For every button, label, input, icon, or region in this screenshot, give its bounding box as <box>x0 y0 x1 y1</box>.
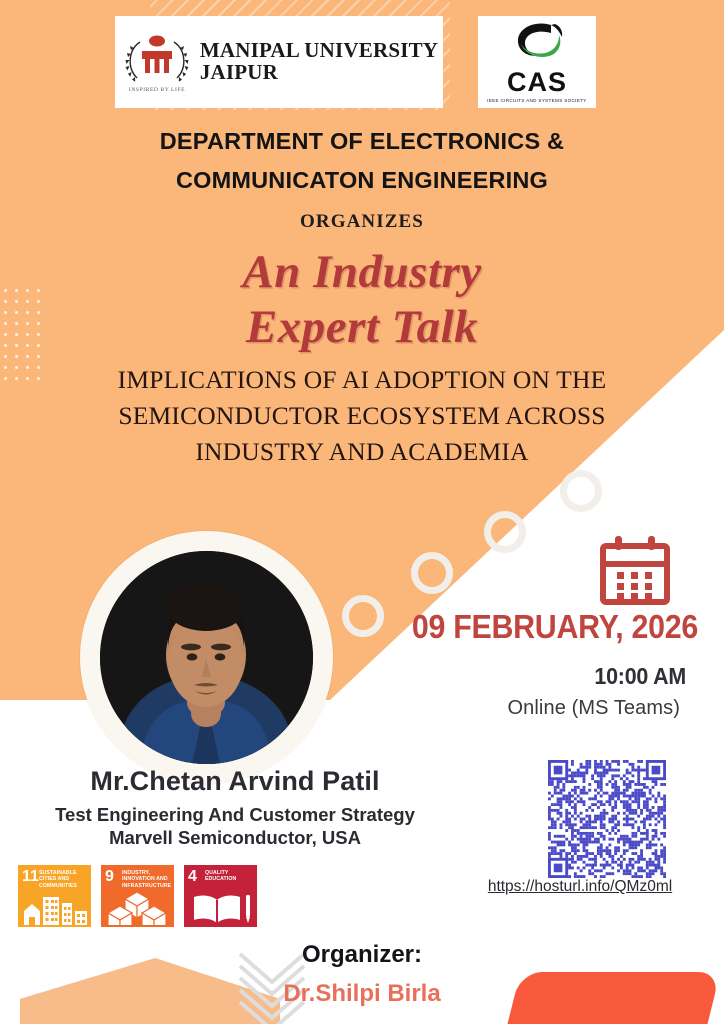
sdg-4-label: QUALITY EDUCATION <box>205 870 255 883</box>
event-date: 09 FEBRUARY, 2026 <box>359 608 698 646</box>
university-name-line2: JAIPUR <box>200 62 438 84</box>
sdg-11-number: 11 <box>22 869 39 885</box>
registration-link[interactable]: https://hosturl.info/QMz0ml <box>440 878 720 896</box>
sdg-11-label: SUSTAINABLE CITIES AND COMMUNITIES <box>39 870 89 889</box>
title-line-1: An Industry <box>242 246 481 298</box>
university-name-line1: MANIPAL UNIVERSITY <box>200 38 438 62</box>
topic-line-2: SEMICONDUCTOR ECOSYSTEM ACROSS <box>42 398 682 434</box>
event-mode: Online (MS Teams) <box>330 697 680 720</box>
decorative-ring-1 <box>560 470 602 512</box>
sdg-goal-4: 4 QUALITY EDUCATION <box>184 865 257 927</box>
speaker-role-line-1: Test Engineering And Customer Strategy <box>0 803 470 826</box>
organizer-label: Organizer: <box>0 941 724 969</box>
ieee-cas-logo: CAS IEEE CIRCUITS AND SYSTEMS SOCIETY <box>478 16 596 108</box>
emblem-motto: INSPIRED BY LIFE <box>129 87 185 93</box>
page-title: An Industry Expert Talk <box>0 245 724 356</box>
qr-code-image[interactable] <box>548 760 666 878</box>
sdg-4-book-icon <box>184 889 257 925</box>
speaker-name: Mr.Chetan Arvind Patil <box>0 766 470 797</box>
sdg-11-city-icon <box>18 889 91 925</box>
talk-topic: IMPLICATIONS OF AI ADOPTION ON THE SEMIC… <box>42 362 682 471</box>
event-time: 10:00 AM <box>355 663 686 690</box>
speaker-affiliation: Test Engineering And Customer Strategy M… <box>0 803 470 849</box>
cas-acronym: CAS <box>498 69 576 96</box>
calendar-icon <box>598 534 672 613</box>
decorative-ring-3 <box>411 552 453 594</box>
logo-row: INSPIRED BY LIFE MANIPAL UNIVERSITY JAIP… <box>0 16 724 108</box>
sdg-4-number: 4 <box>188 869 197 885</box>
topic-line-1: IMPLICATIONS OF AI ADOPTION ON THE <box>42 362 682 398</box>
sdg-goal-11: 11 SUSTAINABLE CITIES AND COMMUNITIES <box>18 865 91 927</box>
sdg-9-number: 9 <box>105 869 114 885</box>
sdg-9-label: INDUSTRY, INNOVATION AND INFRASTRUCTURE <box>122 870 172 889</box>
cas-swirl-icon <box>507 22 567 64</box>
department-line-2: COMMUNICATON ENGINEERING <box>0 161 724 200</box>
speaker-role-line-2: Marvell Semiconductor, USA <box>0 826 470 849</box>
sdg-9-cubes-icon <box>101 889 174 925</box>
avatar <box>100 551 313 764</box>
manipal-emblem-icon: INSPIRED BY LIFE <box>120 28 194 96</box>
title-line-2: Expert Talk <box>0 300 724 355</box>
department-line-1: DEPARTMENT OF ELECTRONICS & <box>0 122 724 161</box>
speaker-photo <box>80 531 333 784</box>
decorative-ring-2 <box>484 511 526 553</box>
manipal-university-jaipur-logo: INSPIRED BY LIFE MANIPAL UNIVERSITY JAIP… <box>115 16 443 108</box>
topic-line-3: INDUSTRY AND ACADEMIA <box>42 434 682 470</box>
qr-code[interactable] <box>548 760 666 878</box>
organizer-name: Dr.Shilpi Birla <box>0 980 724 1008</box>
cas-subtitle: IEEE CIRCUITS AND SYSTEMS SOCIETY <box>487 98 587 103</box>
sdg-goal-row: 11 SUSTAINABLE CITIES AND COMMUNITIES <box>18 865 257 927</box>
department-heading: DEPARTMENT OF ELECTRONICS & COMMUNICATON… <box>0 122 724 200</box>
sdg-goal-9: 9 INDUSTRY, INNOVATION AND INFRASTRUCTUR… <box>101 865 174 927</box>
university-name: MANIPAL UNIVERSITY JAIPUR <box>200 40 438 84</box>
organizes-label: ORGANIZES <box>0 211 724 233</box>
event-poster: INSPIRED BY LIFE MANIPAL UNIVERSITY JAIP… <box>0 0 724 1024</box>
